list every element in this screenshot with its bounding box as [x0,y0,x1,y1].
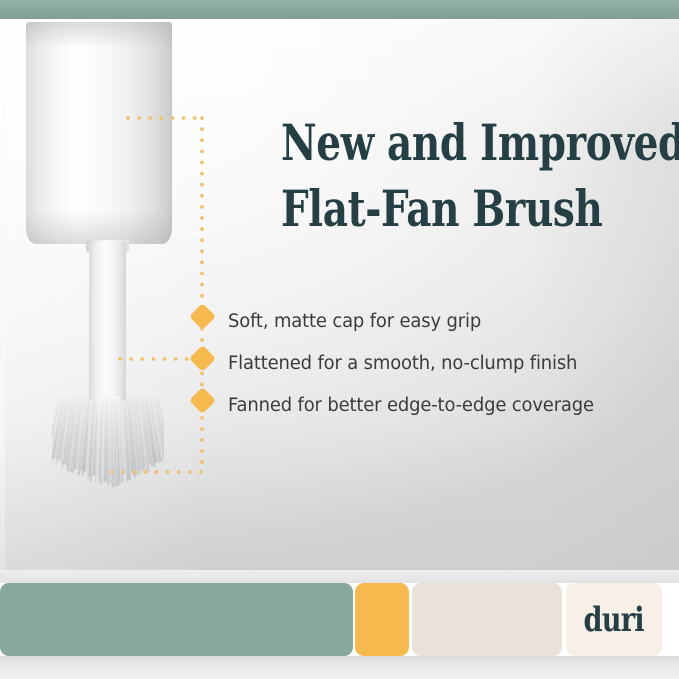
brand-logo-tile: duri [566,583,662,656]
feature-label-1: Soft, matte cap for easy grip [228,311,481,332]
list-item: Fanned for better edge-to-edge coverage [228,384,658,426]
feature-label-2: Flattened for a smooth, no-clump finish [228,353,577,374]
cap-top-shading [26,22,172,48]
brush-stem [89,242,126,400]
brush-bristles [52,396,164,496]
brush-cap [26,22,172,244]
page-title: New and Improved Flat-Fan Brush [281,110,593,242]
image-bottom-edge [0,656,679,679]
cap-bottom-shading [26,210,172,244]
top-accent-strip-shade [0,0,679,19]
brand-logo-text: duri [584,603,644,637]
feature-label-3: Fanned for better edge-to-edge coverage [228,395,594,416]
color-swatch-gold [355,583,409,656]
top-accent-strip [0,0,679,19]
list-item: Soft, matte cap for easy grip [228,300,658,342]
feature-list: Soft, matte cap for easy grip Flattened … [228,300,658,426]
headline-line-1: New and Improved [281,110,593,176]
color-swatch-beige [412,583,562,656]
headline-line-2: Flat-Fan Brush [281,176,593,242]
brush-product-photo [0,18,230,498]
plate-bottom-edge [0,570,679,583]
product-marketing-image: New and Improved Flat-Fan Brush Soft, ma… [0,0,679,679]
list-item: Flattened for a smooth, no-clump finish [228,342,658,384]
color-swatch-sage [0,583,353,656]
brand-color-bar: duri [0,583,662,656]
cap-highlight [58,28,96,232]
